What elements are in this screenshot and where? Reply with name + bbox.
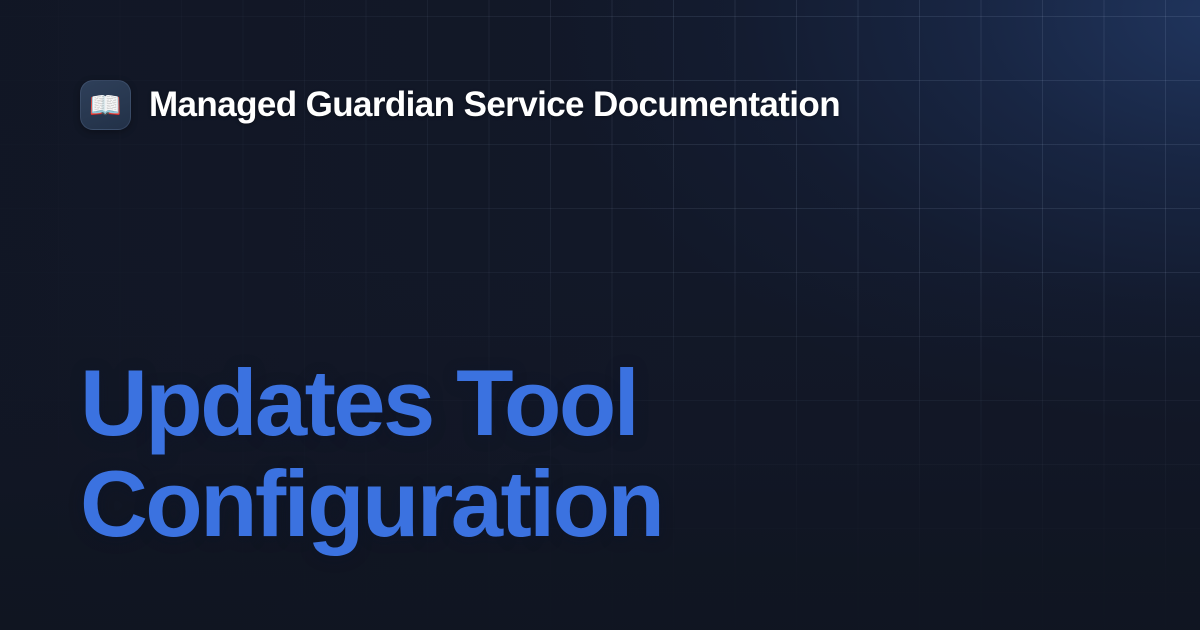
hero-block: Updates Tool Configuration [80,352,1080,554]
og-card: 📖 Managed Guardian Service Documentation… [0,0,1200,630]
open-book-icon: 📖 [80,80,131,130]
site-title: Managed Guardian Service Documentation [149,85,840,125]
open-book-glyph: 📖 [89,92,121,118]
card-content: 📖 Managed Guardian Service Documentation… [0,0,1200,630]
brand-header: 📖 Managed Guardian Service Documentation [80,80,840,130]
page-title: Updates Tool Configuration [80,352,720,554]
